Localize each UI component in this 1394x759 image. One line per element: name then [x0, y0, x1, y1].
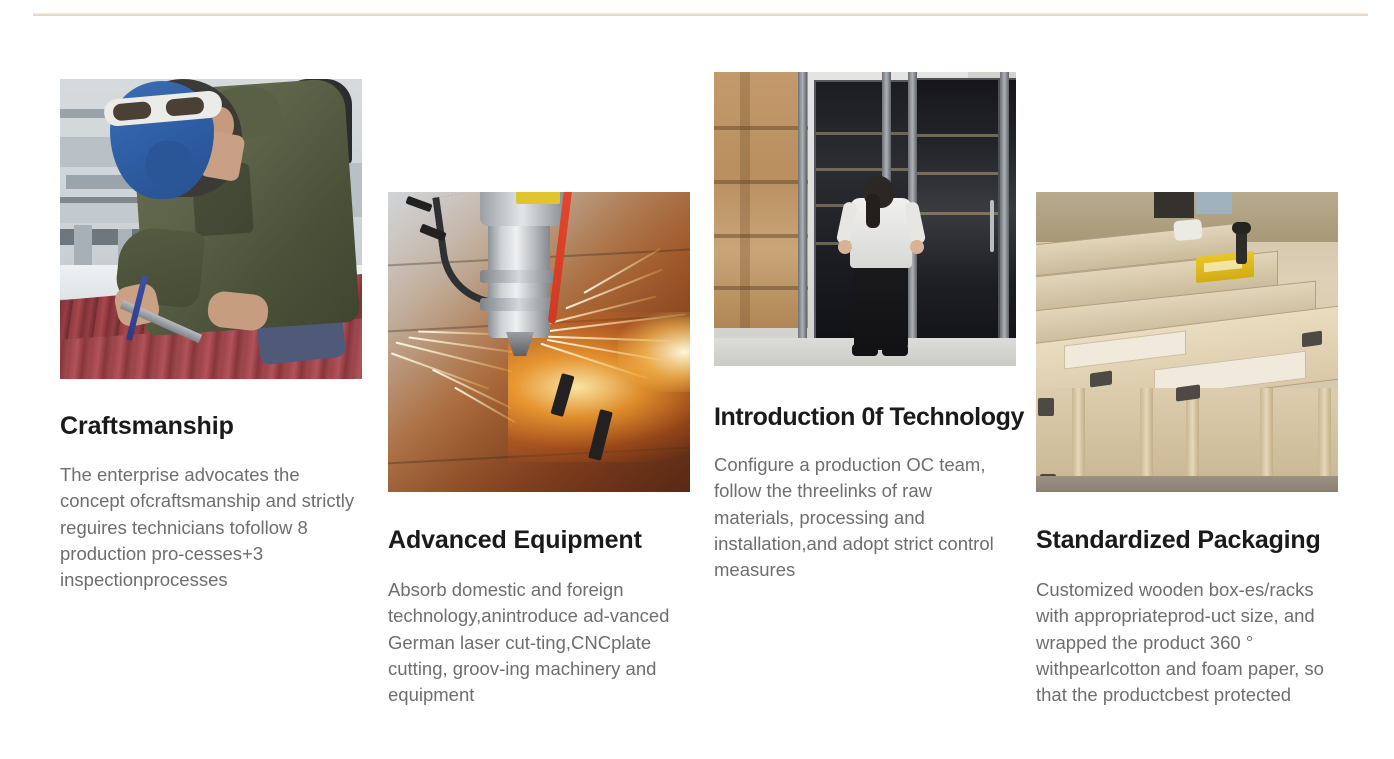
- top-divider-rule: [33, 13, 1368, 16]
- feature-card-introduction-of-technology: Introduction 0f Technology Configure a p…: [714, 72, 1016, 583]
- feature-description: The enterprise advocates the concept ofc…: [60, 462, 360, 593]
- feature-image-craftsmanship: [60, 79, 362, 379]
- feature-image-standardized-packaging: [1036, 192, 1338, 492]
- feature-title: Introduction 0f Technology: [714, 402, 1016, 432]
- feature-image-advanced-equipment: [388, 192, 690, 492]
- feature-description: Configure a production OC team, follow t…: [714, 452, 1014, 583]
- feature-title: Standardized Packaging: [1036, 525, 1338, 555]
- feature-title: Craftsmanship: [60, 411, 362, 441]
- feature-title: Advanced Equipment: [388, 525, 690, 555]
- feature-card-standardized-packaging: Standardized Packaging Customized wooden…: [1036, 192, 1338, 708]
- feature-card-craftsmanship: Craftsmanship The enterprise advocates t…: [60, 79, 362, 593]
- feature-description: Customized wooden box-es/racks with appr…: [1036, 577, 1336, 708]
- slide-canvas: Craftsmanship The enterprise advocates t…: [0, 0, 1394, 759]
- feature-card-advanced-equipment: Advanced Equipment Absorb domestic and f…: [388, 192, 690, 708]
- feature-image-introduction-of-technology: [714, 72, 1016, 366]
- feature-description: Absorb domestic and foreign technology,a…: [388, 577, 688, 708]
